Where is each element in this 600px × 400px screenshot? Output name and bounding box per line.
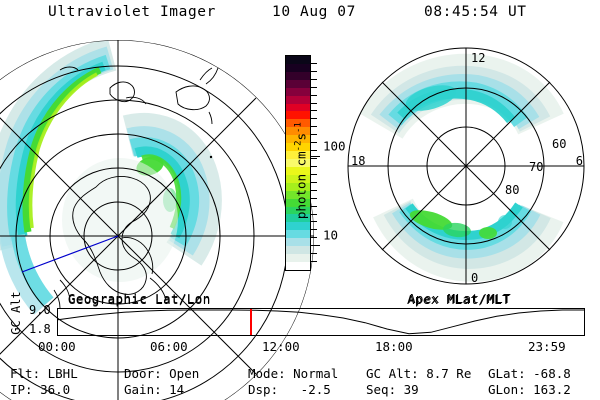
colorbar-tick [311, 237, 317, 238]
orbit-altitude-trace [58, 309, 584, 335]
status-dsp: Dsp: -2.5 [248, 382, 331, 397]
mlt-label-0: 0 [471, 271, 478, 285]
instrument-title: Ultraviolet Imager [48, 4, 216, 20]
orbit-x-tick-3: 18:00 [375, 339, 413, 354]
colorbar-tick [311, 71, 317, 72]
colorbar-tick [311, 134, 317, 135]
status-fields: Flt: LBHL Door: Open Mode: Normal GC Alt… [0, 366, 600, 400]
colorbar-ticks [311, 55, 319, 271]
observation-date: 10 Aug 07 [272, 4, 356, 20]
colorbar-tick [311, 253, 317, 254]
orbit-x-tick-4: 23:59 [528, 339, 566, 354]
observation-time: 08:45:54 UT [424, 4, 527, 20]
colorbar-tick [311, 150, 317, 151]
mlat-label-60: 60 [552, 137, 566, 151]
colorbar-tick [311, 174, 317, 175]
colorbar-tick [311, 63, 317, 64]
orbit-plot-box [57, 308, 585, 336]
apex-plot[interactable]: 12 6 0 18 60 70 80 Apex MLat/MLT [345, 40, 600, 295]
colorbar-band [286, 56, 310, 64]
orbit-y-axis-title: GC Alt [9, 284, 23, 342]
colorbar-tick [311, 182, 317, 183]
status-gain: Gain: 14 [124, 382, 184, 397]
colorbar-tick [311, 95, 317, 96]
orbit-title-right: Apex MLat/MLT [408, 291, 511, 306]
colorbar-label-10: 10 [323, 228, 338, 243]
colorbar-tick [311, 110, 317, 111]
uvi-summary-plot: Ultraviolet Imager 10 Aug 07 08:45:54 UT [0, 0, 600, 400]
geographic-svg [0, 40, 255, 298]
colorbar-tick [311, 221, 317, 222]
colorbar-tick [311, 103, 317, 104]
aurora-emission-geo [4, 54, 200, 306]
apex-svg: 12 6 0 18 60 70 80 [345, 40, 600, 298]
colorbar-axis-title-sup2: -1 [293, 122, 303, 133]
colorbar-band [286, 262, 310, 270]
mlt-label-6: 6 [576, 154, 583, 168]
orbit-x-tick-1: 06:00 [150, 339, 188, 354]
colorbar-label-100: 100 [323, 139, 346, 154]
colorbar-tick-major [311, 156, 320, 157]
colorbar-tick [311, 229, 317, 230]
colorbar-tick [311, 126, 317, 127]
colorbar-tick [311, 158, 317, 159]
mlat-label-70: 70 [529, 160, 543, 174]
status-ip: IP: 36.0 [10, 382, 70, 397]
colorbar-tick-major [311, 245, 320, 246]
colorbar-tick [311, 166, 317, 167]
header: Ultraviolet Imager 10 Aug 07 08:45:54 UT [0, 4, 600, 26]
mlt-label-18: 18 [351, 154, 365, 168]
orbit-title-left: Geographic Lat/Lon [68, 291, 211, 306]
colorbar-tick [311, 190, 317, 191]
orbit-y-tick-high: 9.0 [29, 303, 51, 317]
colorbar-tick [311, 79, 317, 80]
orbit-x-tick-0: 00:00 [38, 339, 76, 354]
colorbar-tick [311, 261, 317, 262]
status-door: Door: Open [124, 366, 199, 381]
colorbar-tick [311, 87, 317, 88]
mlt-label-12: 12 [471, 51, 485, 65]
colorbar-tick [311, 206, 317, 207]
orbit-y-tick-low: 1.8 [29, 322, 51, 336]
orbit-altitude-panel[interactable]: Geographic Lat/Lon Apex MLat/MLT GC Alt … [0, 292, 600, 358]
colorbar-tick [311, 214, 317, 215]
colorbar-tick [311, 198, 317, 199]
status-gc-alt: GC Alt: 8.7 Re [366, 366, 471, 381]
colorbar-tick [311, 118, 317, 119]
colorbar-axis-title-mid: s [294, 133, 309, 141]
colorbar-axis-title-sup1: -2 [293, 140, 303, 151]
mlat-label-80: 80 [505, 183, 519, 197]
colorbar-axis-title-main: photon cm [294, 151, 309, 219]
colorbar-band [286, 64, 310, 72]
current-time-marker [250, 309, 252, 335]
orbit-x-tick-2: 12:00 [262, 339, 300, 354]
status-glon: GLon: 163.2 [488, 382, 571, 397]
status-flt: Flt: LBHL [10, 366, 78, 381]
geographic-plot[interactable]: Geographic Lat/Lon [0, 40, 255, 295]
colorbar-band [286, 72, 310, 80]
colorbar-axis-title: photon cm-2s-1 [293, 81, 308, 261]
status-seq: Seq: 39 [366, 382, 419, 397]
status-glat: GLat: -68.8 [488, 366, 571, 381]
status-mode: Mode: Normal [248, 366, 338, 381]
colorbar-tick [311, 142, 317, 143]
